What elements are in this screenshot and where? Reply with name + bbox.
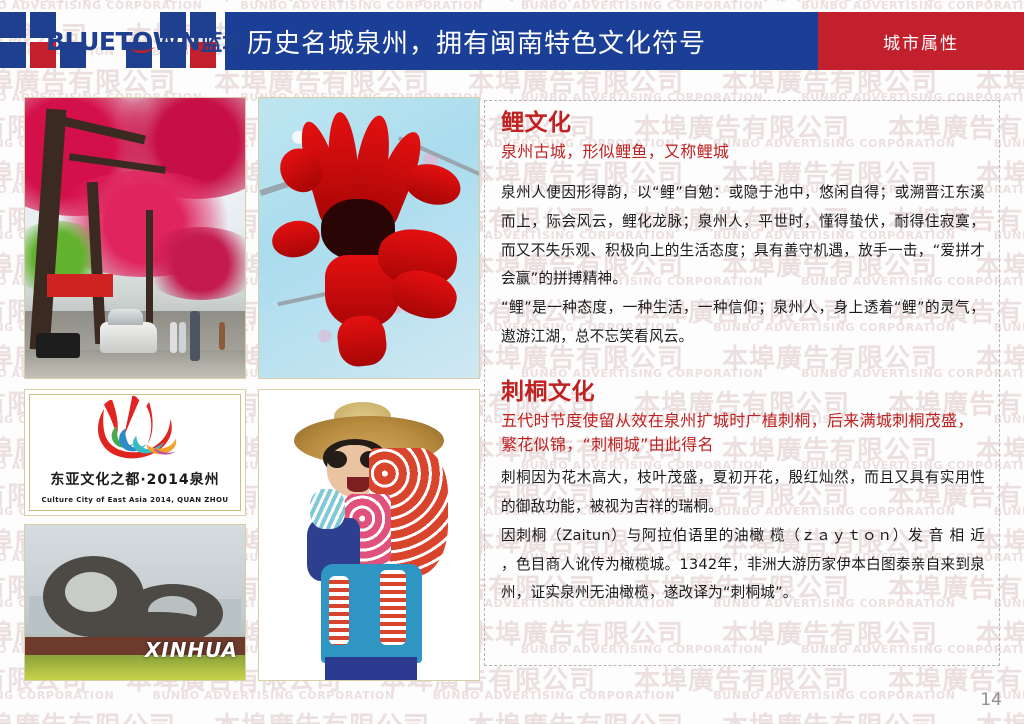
photo-flowering-trees-street bbox=[24, 97, 246, 379]
watermark-text-en: BUNBO ADVERTISING CORPORATIONBUNBO ADVER… bbox=[0, 689, 1024, 702]
section-title-citong: 刺桐文化 bbox=[501, 378, 985, 407]
section-title-koi: 鲤文化 bbox=[501, 109, 985, 138]
logo-brand-en: BLUETOWN bbox=[46, 27, 200, 56]
section-body-citong: 刺桐因为花木高大，枝叶茂盛，夏初开花，殷红灿然，而且又具有实用性的御敌功能，被视… bbox=[501, 464, 985, 608]
culture-city-en-label: Culture City of East Asia 2014, QUAN ZHO… bbox=[25, 496, 245, 504]
section-subtitle-koi: 泉州古城，形似鲤鱼，又称鲤城 bbox=[501, 140, 985, 164]
content-text-panel: 鲤文化 泉州古城，形似鲤鱼，又称鲤城 泉州人便因形得韵，以“鲤”自勉：或隐于池中… bbox=[484, 100, 1000, 666]
photo-stone-sculpture: XINHUA bbox=[24, 524, 246, 681]
header-tag-label: 城市属性 bbox=[883, 29, 959, 54]
page-number: 14 bbox=[980, 690, 1002, 710]
swoosh-icon bbox=[129, 45, 155, 56]
paragraph: 泉州人便因形得韵，以“鲤”自勉：或隐于池中，悠闲自得；或溯晋江东溪而上，际会风云… bbox=[501, 179, 985, 295]
photo-red-coral-flower bbox=[258, 97, 480, 379]
paragraph: 刺桐因为花木高大，枝叶茂盛，夏初开花，殷红灿然，而且又具有实用性的御敌功能，被视… bbox=[501, 464, 985, 522]
section-body-koi: 泉州人便因形得韵，以“鲤”自勉：或隐于池中，悠闲自得；或溯晋江东溪而上，际会风云… bbox=[501, 179, 985, 352]
slide-header: BLUETOWN蓝城 历史名城泉州，拥有闽南特色文化符号 城市属性 bbox=[0, 12, 1024, 70]
bluetown-logo[interactable]: BLUETOWN蓝城 bbox=[0, 12, 228, 70]
header-title-bar: 历史名城泉州，拥有闽南特色文化符号 bbox=[225, 12, 818, 70]
culture-city-emblem-icon bbox=[25, 392, 245, 470]
paragraph: 因刺桐（Zaitun）与阿拉伯语里的油橄 榄（ｚａｙｔｏｎ）发 音 相 近 ，色… bbox=[501, 522, 985, 609]
logo-brand-cn: 蓝城 bbox=[200, 31, 244, 56]
section-subtitle-citong: 五代时节度使留从效在泉州扩城时广植刺桐，后来满城刺桐茂盛，繁花似锦，“刺桐城”由… bbox=[501, 409, 985, 457]
xinhua-watermark: XINHUA bbox=[145, 638, 238, 662]
header-tag-badge: 城市属性 bbox=[818, 12, 1024, 70]
section-koi-culture: 鲤文化 泉州古城，形似鲤鱼，又称鲤城 泉州人便因形得韵，以“鲤”自勉：或隐于池中… bbox=[501, 109, 985, 352]
watermark-text-cn: 本埠廣告有限公司本埠廣告有限公司本埠廣告有限公司本埠廣告有限公司本埠廣告有限公司… bbox=[0, 0, 1024, 7]
section-citong-culture: 刺桐文化 五代时节度使留从效在泉州扩城时广植刺桐，后来满城刺桐茂盛，繁花似锦，“… bbox=[501, 378, 985, 608]
slide-page: 本埠廣告有限公司本埠廣告有限公司本埠廣告有限公司本埠廣告有限公司本埠廣告有限公司… bbox=[0, 0, 1024, 724]
photo-east-asia-culture-city-logo: 东亚文化之都·2014泉州 Culture City of East Asia … bbox=[24, 389, 246, 516]
photo-huian-girl bbox=[258, 389, 480, 681]
watermark-text-en: BUNBO ADVERTISING CORPORATIONBUNBO ADVER… bbox=[0, 0, 1024, 12]
culture-city-cn-label: 东亚文化之都·2014泉州 bbox=[25, 469, 245, 489]
paragraph: “鲤”是一种态度，一种生活，一种信仰；泉州人，身上透着“鲤”的灵气，遨游江湖，总… bbox=[501, 294, 985, 352]
page-title: 历史名城泉州，拥有闽南特色文化符号 bbox=[225, 23, 706, 60]
watermark-text-cn: 本埠廣告有限公司本埠廣告有限公司本埠廣告有限公司本埠廣告有限公司本埠廣告有限公司… bbox=[0, 706, 1024, 724]
